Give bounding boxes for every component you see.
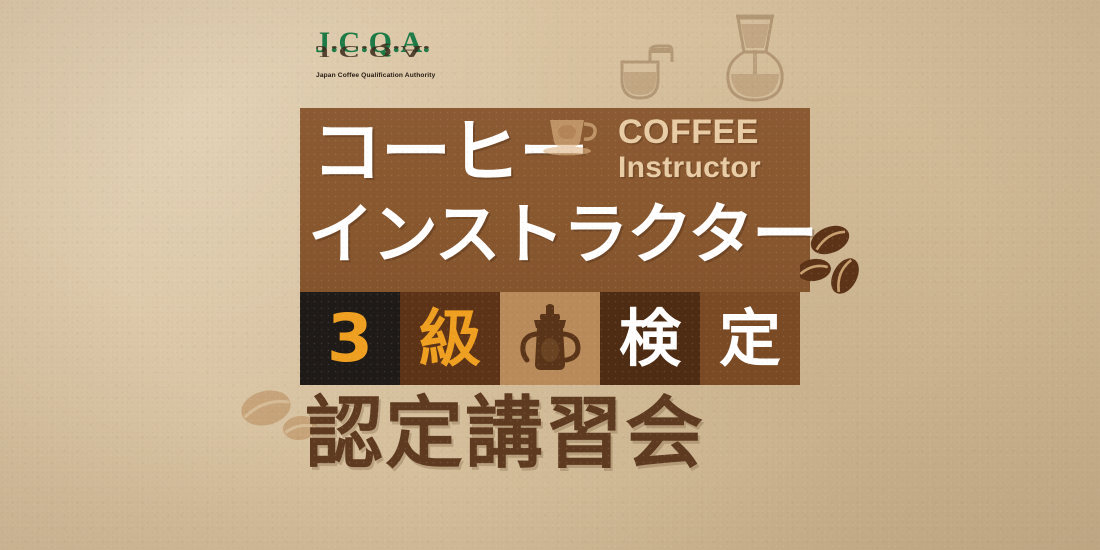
chemex-brewer-icon [718, 8, 792, 108]
tile-label-ken: 検 [600, 308, 700, 370]
tile-coffee-pot [500, 292, 600, 385]
coffee-cup-icon [540, 112, 600, 158]
tile-exam-kanji-2: 定 [700, 292, 800, 385]
poster-canvas: J.C.Q.A. J.C.Q.A. Japan Coffee Qualifica… [0, 0, 1100, 550]
tile-exam-kanji-1: 検 [600, 292, 700, 385]
jcqa-logo-reflection: J.C.Q.A. [315, 43, 467, 60]
english-title: COFFEE Instructor [618, 114, 808, 184]
jcqa-logo-subtitle: Japan Coffee Qualification Authority [316, 72, 435, 79]
coffee-server-icon [600, 28, 680, 108]
english-title-line-2: Instructor [618, 151, 808, 184]
title-row-1: コーヒー COFFEE Instructor [300, 108, 810, 196]
tile-label-kyuu: 級 [400, 308, 500, 370]
page-heading: 認定講習会 [305, 392, 705, 476]
title-line-2-jp: インストラクター [308, 202, 816, 268]
title-row-2: インストラクター [300, 196, 810, 292]
tile-label-tei: 定 [700, 308, 800, 370]
tile-grade-kanji: 級 [400, 292, 500, 385]
grade-tile-strip: 3 級 検 [300, 292, 810, 385]
tile-grade-number: 3 [300, 292, 400, 385]
english-title-line-1: COFFEE [618, 114, 808, 151]
coffee-beans-icon [800, 218, 872, 300]
jcqa-logo: J.C.Q.A. J.C.Q.A. Japan Coffee Qualifica… [315, 28, 467, 86]
title-panel: コーヒー COFFEE Instructor インストラクター [300, 108, 810, 292]
tile-label-3: 3 [300, 308, 400, 370]
coffee-pot-icon [518, 300, 582, 383]
